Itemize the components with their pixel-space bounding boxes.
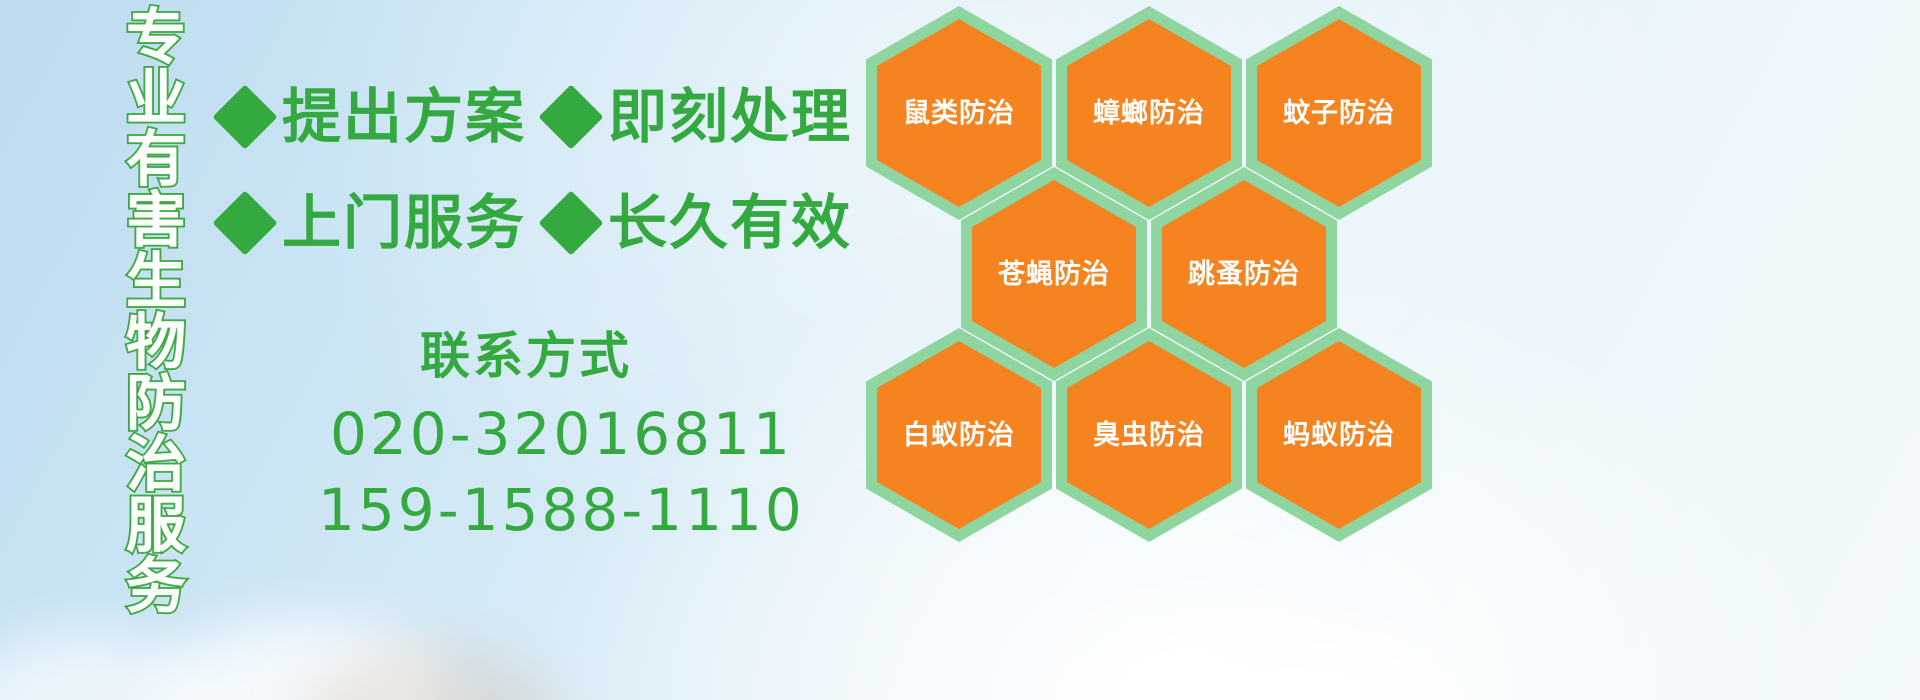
service-label: 跳蚤防治	[1188, 261, 1300, 288]
vertical-headline-char: 物	[126, 313, 186, 374]
service-label: 白蚁防治	[903, 422, 1015, 449]
contact-phone-landline[interactable]: 020-32016811	[330, 400, 793, 468]
banner-root: 专 业 有 害 生 物 防 治 服 务 提出方案 即刻处理 上门服务 长久有效 …	[0, 0, 1920, 700]
service-hex-ant[interactable]: 蚂蚁防治	[1246, 328, 1432, 542]
vertical-headline: 专 业 有 害 生 物 防 治 服 务	[104, 8, 208, 568]
vertical-headline-char: 治	[126, 435, 186, 496]
contact-phone-mobile[interactable]: 159-1588-1110	[318, 476, 805, 544]
vertical-headline-char: 防	[126, 374, 186, 435]
center-content: 提出方案 即刻处理 上门服务 长久有效 联系方式 020-32016811 15…	[222, 0, 872, 700]
vertical-headline-char: 有	[126, 130, 186, 191]
feature-row-2: 上门服务 长久有效	[222, 192, 852, 254]
feature-label: 即刻处理	[608, 86, 852, 148]
service-hex-bedbug[interactable]: 臭虫防治	[1056, 328, 1242, 542]
service-label: 鼠类防治	[903, 100, 1015, 127]
background-glow-left	[0, 630, 200, 700]
hexagon-shape: 臭虫防治	[1056, 328, 1242, 542]
service-hex-termite[interactable]: 白蚁防治	[866, 328, 1052, 542]
service-label: 臭虫防治	[1093, 422, 1205, 449]
feature-label: 长久有效	[608, 192, 852, 254]
feature-label: 提出方案	[282, 86, 526, 148]
contact-section-title: 联系方式	[420, 316, 632, 388]
vertical-headline-char: 生	[126, 252, 186, 313]
service-label: 蟑螂防治	[1093, 100, 1205, 127]
hexagon-fill: 蚂蚁防治	[1257, 341, 1421, 529]
vertical-headline-char: 服	[126, 496, 186, 557]
vertical-headline-char: 害	[126, 191, 186, 252]
vertical-headline-char: 务	[126, 557, 186, 618]
vertical-headline-char: 专	[126, 8, 186, 69]
diamond-bullet-icon	[212, 190, 277, 255]
hexagon-shape: 蚂蚁防治	[1246, 328, 1432, 542]
service-honeycomb: 鼠类防治 蟑螂防治 蚊子防治 苍蝇防治	[860, 0, 1460, 560]
hexagon-fill: 臭虫防治	[1067, 341, 1231, 529]
diamond-bullet-icon	[538, 190, 603, 255]
feature-row-1: 提出方案 即刻处理	[222, 86, 852, 148]
diamond-bullet-icon	[538, 84, 603, 149]
service-label: 蚂蚁防治	[1283, 422, 1395, 449]
background-glow-bottom-center	[1060, 626, 1480, 700]
hexagon-fill: 白蚁防治	[877, 341, 1041, 529]
vertical-headline-char: 业	[126, 69, 186, 130]
hexagon-shape: 白蚁防治	[866, 328, 1052, 542]
diamond-bullet-icon	[212, 84, 277, 149]
service-label: 苍蝇防治	[998, 261, 1110, 288]
feature-label: 上门服务	[282, 192, 526, 254]
service-label: 蚊子防治	[1283, 100, 1395, 127]
